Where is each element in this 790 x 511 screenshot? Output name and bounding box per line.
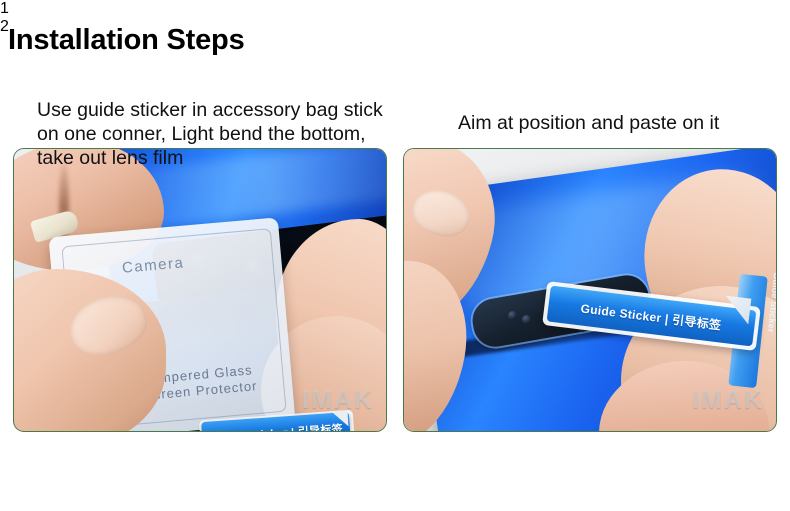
photo1-guide-sticker-fold	[331, 410, 348, 427]
step-2-caption: Aim at position and paste on it	[458, 111, 778, 135]
step-1-caption: Use guide sticker in accessory bag stick…	[37, 98, 397, 170]
step-1-photo-panel: Camera Tempered Glass Screen Protector G…	[13, 148, 387, 432]
step-2-photo-panel: Guide Sticker Guide Sticker | 引导标签 IMAK	[403, 148, 777, 432]
photo2-camera-lens-b	[522, 315, 531, 324]
step-1-number-badge: 1	[0, 0, 790, 18]
photo2-camera-lens-a	[508, 311, 517, 320]
page-title: Installation Steps	[8, 23, 245, 57]
step-2-photo-inner: Guide Sticker Guide Sticker | 引导标签 IMAK	[404, 149, 776, 431]
step-1-photo-inner: Camera Tempered Glass Screen Protector G…	[14, 149, 386, 431]
